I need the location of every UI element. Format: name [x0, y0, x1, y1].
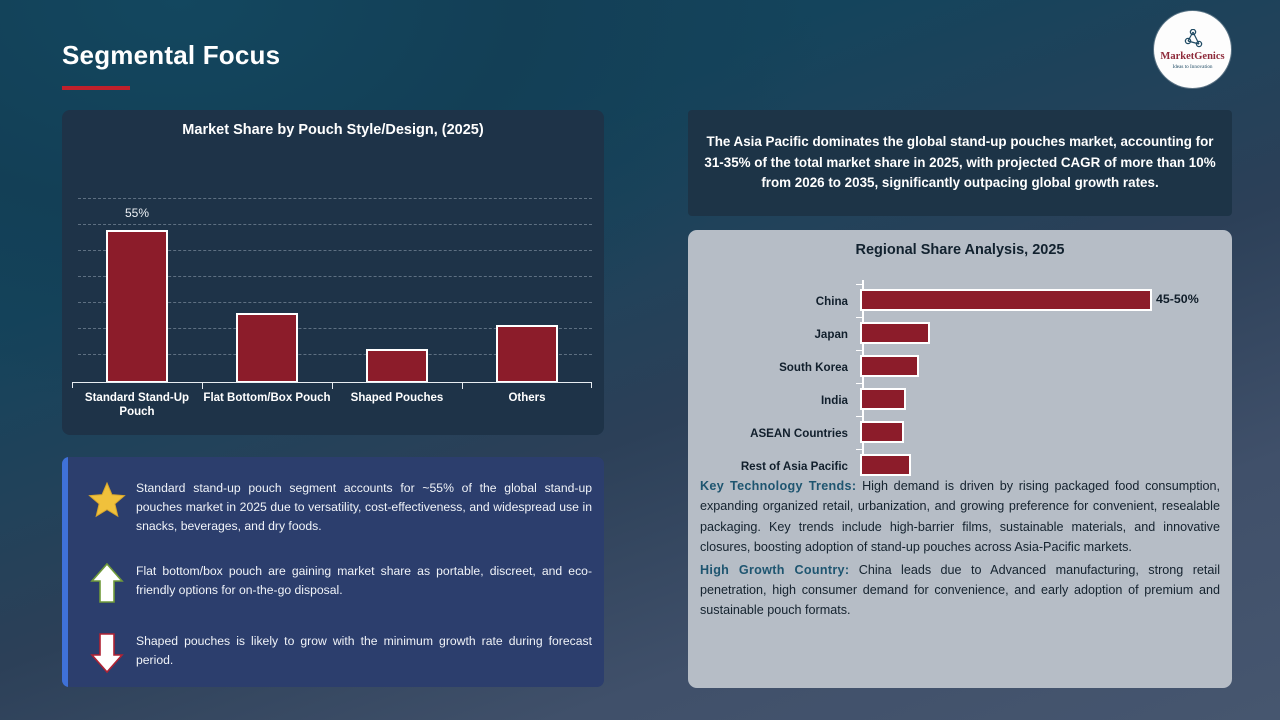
regional-body-text: Key Technology Trends: High demand is dr…: [700, 476, 1220, 623]
pouch-style-chart-panel: Market Share by Pouch Style/Design, (202…: [62, 110, 604, 435]
hbar-japan[interactable]: [860, 322, 930, 344]
slide-root: Segmental Focus MarketGenics Ideas to In…: [0, 0, 1280, 720]
hbar-row-china: China 45-50%: [688, 286, 1232, 316]
insight-text: Standard stand-up pouch segment accounts…: [130, 477, 592, 536]
hbar-south-korea[interactable]: [860, 355, 919, 377]
y-axis-tick: [856, 350, 863, 351]
insight-accent-bar: [62, 457, 68, 687]
paragraph-lead: High Growth Country:: [700, 563, 849, 577]
hbar-value-label: 45-50%: [1156, 292, 1199, 306]
category-label: Flat Bottom/Box Pouch: [202, 391, 332, 420]
banner-text: The Asia Pacific dominates the global st…: [704, 132, 1216, 194]
pouch-style-chart-title: Market Share by Pouch Style/Design, (202…: [62, 122, 604, 138]
y-axis-tick: [856, 416, 863, 417]
x-axis-tick: [332, 382, 333, 389]
pouch-insights-panel: Standard stand-up pouch segment accounts…: [62, 457, 604, 687]
brand-logo: MarketGenics Ideas to Innovation: [1154, 11, 1231, 88]
y-axis-tick: [856, 284, 863, 285]
y-axis-tick: [856, 449, 863, 450]
paragraph-key-technology-trends: Key Technology Trends: High demand is dr…: [700, 476, 1220, 558]
hbar-label: South Korea: [688, 361, 856, 374]
hbar-label: Japan: [688, 328, 856, 341]
asia-pacific-banner: The Asia Pacific dominates the global st…: [688, 110, 1232, 216]
x-axis-left-cap: [72, 382, 73, 388]
hbar-label: Rest of Asia Pacific: [688, 460, 856, 473]
bar-slot-standard-stand-up-pouch: 55%: [72, 198, 202, 383]
up-arrow-icon: [84, 560, 130, 606]
star-icon: [84, 477, 130, 523]
hbar-label: China: [688, 295, 856, 308]
category-label: Standard Stand-Up Pouch: [72, 391, 202, 420]
bar-flat-bottom-box-pouch[interactable]: [236, 313, 298, 383]
bar-slot-others: [462, 198, 592, 383]
regional-chart-title: Regional Share Analysis, 2025: [688, 242, 1232, 258]
hbar-china[interactable]: [860, 289, 1152, 311]
insight-item: Flat bottom/box pouch are gaining market…: [84, 560, 592, 606]
logo-name: MarketGenics: [1160, 52, 1224, 63]
hbar-track: [856, 322, 1232, 346]
bar-slot-flat-bottom-box-pouch: [202, 198, 332, 383]
bar-value-label: 55%: [125, 206, 149, 220]
hbar-asean-countries[interactable]: [860, 421, 904, 443]
insight-item: Shaped pouches is likely to grow with th…: [84, 630, 592, 676]
paragraph-high-growth-country: High Growth Country: China leads due to …: [700, 560, 1220, 621]
regional-bars-area: China 45-50% Japan South Korea Ind: [688, 272, 1232, 467]
network-nodes-icon: [1180, 29, 1206, 51]
page-title: Segmental Focus: [62, 40, 280, 71]
y-axis-tick: [856, 317, 863, 318]
bar-slot-shaped-pouches: [332, 198, 462, 383]
category-label: Shaped Pouches: [332, 391, 462, 420]
hbar-rest-of-asia-pacific[interactable]: [860, 454, 911, 476]
paragraph-lead: Key Technology Trends:: [700, 479, 856, 493]
x-axis-tick: [462, 382, 463, 389]
pouch-style-bars: 55%: [72, 198, 592, 383]
hbar-track: [856, 355, 1232, 379]
y-axis-tick: [856, 383, 863, 384]
hbar-row-south-korea: South Korea: [688, 352, 1232, 382]
bar-standard-stand-up-pouch[interactable]: [106, 230, 168, 383]
pouch-style-category-labels: Standard Stand-Up Pouch Flat Bottom/Box …: [72, 391, 592, 420]
pouch-style-plot-area: 55%: [72, 198, 592, 383]
x-axis-tick: [202, 382, 203, 389]
regional-share-panel: Regional Share Analysis, 2025 China 45-5…: [688, 230, 1232, 688]
hbar-track: [856, 388, 1232, 412]
bar-others[interactable]: [496, 325, 558, 383]
insight-text: Flat bottom/box pouch are gaining market…: [130, 560, 592, 600]
hbar-track: [856, 421, 1232, 445]
insight-item: Standard stand-up pouch segment accounts…: [84, 477, 592, 536]
down-arrow-icon: [84, 630, 130, 676]
hbar-row-asean-countries: ASEAN Countries: [688, 418, 1232, 448]
bar-shaped-pouches[interactable]: [366, 349, 428, 383]
hbar-row-india: India: [688, 385, 1232, 415]
hbar-row-japan: Japan: [688, 319, 1232, 349]
x-axis-right-cap: [591, 382, 592, 388]
insight-text: Shaped pouches is likely to grow with th…: [130, 630, 592, 670]
hbar-label: India: [688, 394, 856, 407]
logo-tagline: Ideas to Innovation: [1172, 65, 1212, 70]
hbar-track: 45-50%: [856, 289, 1232, 313]
hbar-label: ASEAN Countries: [688, 427, 856, 440]
insight-list: Standard stand-up pouch segment accounts…: [84, 477, 592, 687]
category-label: Others: [462, 391, 592, 420]
title-underline-rule: [62, 86, 130, 90]
hbar-india[interactable]: [860, 388, 906, 410]
hbar-track: [856, 454, 1232, 478]
